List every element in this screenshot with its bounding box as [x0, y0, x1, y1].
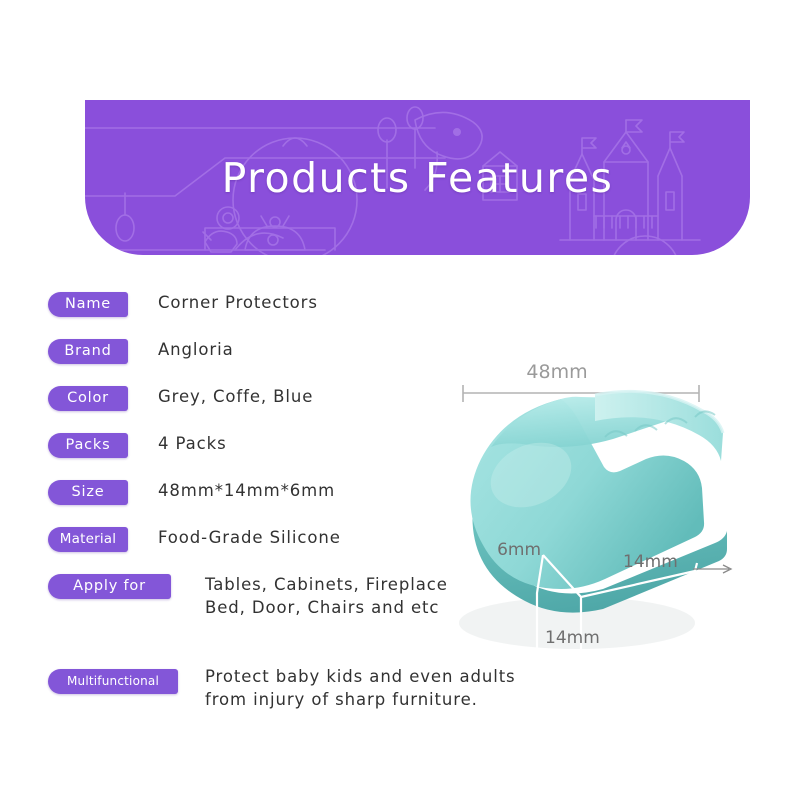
spec-label-name: Name [48, 292, 128, 317]
spec-label-packs: Packs [48, 433, 128, 458]
spec-label-material: Material [48, 527, 128, 552]
spec-label-apply-for: Apply for [48, 574, 171, 599]
svg-text:14mm: 14mm [623, 552, 678, 572]
spec-value-brand: Angloria [158, 337, 234, 362]
dimension-label-14mm-front: 14mm [545, 628, 600, 648]
corner-protector-svg: 48mm [445, 355, 785, 685]
spec-label-size: Size [48, 480, 128, 505]
spec-value-material: Food-Grade Silicone [158, 525, 341, 550]
spec-label-color: Color [48, 386, 128, 411]
spec-label-brand: Brand [48, 339, 128, 364]
spec-label-multifunctional: Multifunctional [48, 669, 178, 694]
spec-value-apply-for: Tables, Cabinets, Fireplace Bed, Door, C… [205, 573, 448, 619]
spec-value-size: 48mm*14mm*6mm [158, 478, 335, 503]
dimension-label-6mm: 6mm [497, 540, 541, 560]
dimension-label-48mm: 48mm [526, 361, 587, 383]
spec-value-name: Corner Protectors [158, 290, 318, 315]
product-illustration: 48mm [445, 355, 785, 685]
header-banner: Products Features [85, 100, 750, 255]
page-title: Products Features [85, 154, 750, 202]
infographic-page: Products Features Name Corner Protectors… [0, 0, 800, 800]
spec-value-packs: 4 Packs [158, 431, 227, 456]
product-body [470, 391, 727, 612]
spec-value-color: Grey, Coffe, Blue [158, 384, 313, 409]
spec-row-name: Name Corner Protectors [48, 290, 608, 337]
